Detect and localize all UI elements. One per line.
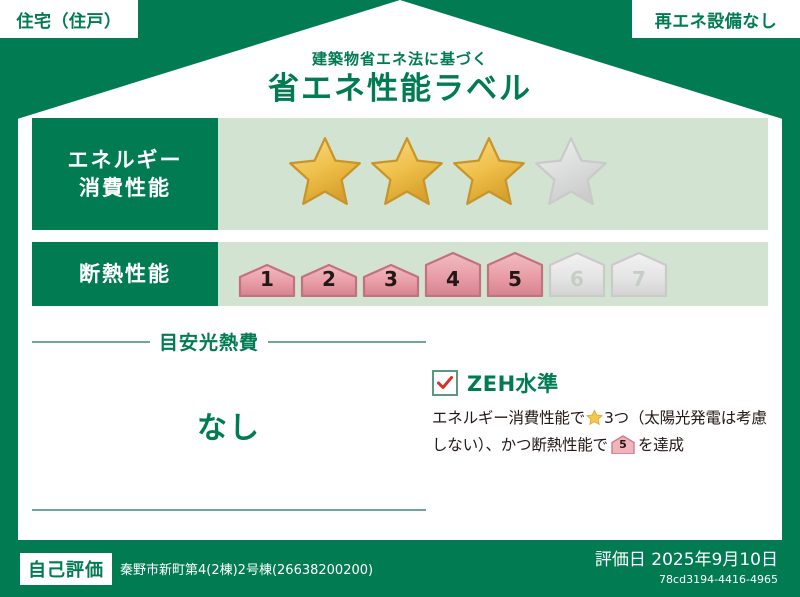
zeh-description: エネルギー消費性能で 3つ（太陽光発電は考慮しない）、かつ断熱性能で 5 を達成 bbox=[432, 406, 768, 457]
insulation-grade-7: 7 bbox=[610, 251, 668, 297]
star-icon-inline bbox=[586, 409, 603, 433]
insulation-grade-number: 4 bbox=[424, 267, 482, 291]
house-icon-inline-number: 5 bbox=[611, 435, 635, 454]
zeh-desc-part3: を達成 bbox=[638, 436, 684, 454]
star-list bbox=[286, 133, 610, 215]
label-code: 78cd3194-4416-4965 bbox=[595, 573, 778, 587]
self-evaluation-badge: 自己評価 bbox=[20, 553, 112, 585]
insulation-grade-number: 2 bbox=[300, 267, 358, 291]
badge-building-type: 住宅（住戸） bbox=[0, 0, 138, 38]
house-icon-inline: 5 bbox=[611, 435, 635, 454]
insulation-grade-1: 1 bbox=[238, 263, 296, 297]
insulation-grade-number: 6 bbox=[548, 267, 606, 291]
insulation-grade-2: 2 bbox=[300, 263, 358, 297]
star-icon-filled bbox=[286, 133, 364, 215]
footer: 自己評価 秦野市新町第4(2棟)2号棟(26638200200) 評価日 202… bbox=[0, 540, 800, 597]
badge-renewable-energy: 再エネ設備なし bbox=[632, 0, 800, 38]
star-icon-filled bbox=[450, 133, 528, 215]
energy-label-line2: 消費性能 bbox=[79, 174, 171, 202]
row-insulation-performance: 断熱性能 1234567 bbox=[32, 242, 768, 306]
property-address: 秦野市新町第4(2棟)2号棟(26638200200) bbox=[120, 559, 373, 578]
evaluation-date: 評価日 2025年9月10日 bbox=[595, 550, 778, 571]
energy-label-line1: エネルギー bbox=[68, 146, 183, 174]
utility-cost-section: 目安光熱費 なし bbox=[32, 328, 426, 511]
house-grade-list: 1234567 bbox=[238, 251, 668, 297]
row-energy-performance-label: エネルギー 消費性能 bbox=[32, 118, 218, 230]
insulation-label: 断熱性能 bbox=[79, 260, 171, 288]
energy-performance-label: 住宅（住戸） 再エネ設備なし 建築物省エネ法に基づく 省エネ性能ラベル エネルギ… bbox=[0, 0, 800, 597]
star-icon-filled bbox=[368, 133, 446, 215]
utility-cost-value: なし bbox=[32, 403, 426, 447]
zeh-title: ZEH水準 bbox=[467, 368, 559, 398]
row-energy-performance: エネルギー 消費性能 bbox=[32, 118, 768, 230]
zeh-standard-block: ZEH水準 エネルギー消費性能で 3つ（太陽光発電は考慮しない）、かつ断熱性能で… bbox=[432, 368, 768, 457]
badge-renewable-energy-label: 再エネ設備なし bbox=[655, 7, 778, 32]
metrics-area: エネルギー 消費性能 断熱性能 1234567 bbox=[32, 118, 768, 318]
insulation-grade-6: 6 bbox=[548, 251, 606, 297]
star-icon-empty bbox=[532, 133, 610, 215]
evaluation-date-label: 評価日 bbox=[595, 550, 646, 570]
utility-cost-heading-label: 目安光熱費 bbox=[159, 328, 259, 355]
check-icon bbox=[437, 376, 453, 390]
insulation-grade-scale: 1234567 bbox=[218, 242, 768, 306]
badge-building-type-label: 住宅（住戸） bbox=[17, 7, 122, 32]
utility-cost-heading: 目安光熱費 bbox=[32, 328, 426, 355]
heading-rule-left bbox=[32, 341, 150, 343]
zeh-desc-part1: エネルギー消費性能で bbox=[432, 409, 585, 427]
insulation-grade-number: 7 bbox=[610, 267, 668, 291]
utility-cost-bottom-rule bbox=[32, 509, 426, 511]
heading-rule-right bbox=[268, 341, 426, 343]
evaluation-date-value: 2025年9月10日 bbox=[651, 550, 778, 570]
row-insulation-performance-label: 断熱性能 bbox=[32, 242, 218, 306]
insulation-grade-4: 4 bbox=[424, 251, 482, 297]
insulation-grade-number: 5 bbox=[486, 267, 544, 291]
insulation-grade-number: 1 bbox=[238, 267, 296, 291]
footer-right: 評価日 2025年9月10日 78cd3194-4416-4965 bbox=[595, 550, 800, 587]
energy-star-rating bbox=[218, 118, 768, 230]
insulation-grade-number: 3 bbox=[362, 267, 420, 291]
footer-left: 自己評価 秦野市新町第4(2棟)2号棟(26638200200) bbox=[0, 553, 373, 585]
zeh-title-row: ZEH水準 bbox=[432, 368, 768, 398]
insulation-grade-5: 5 bbox=[486, 251, 544, 297]
insulation-grade-3: 3 bbox=[362, 263, 420, 297]
zeh-checkbox bbox=[432, 370, 458, 396]
